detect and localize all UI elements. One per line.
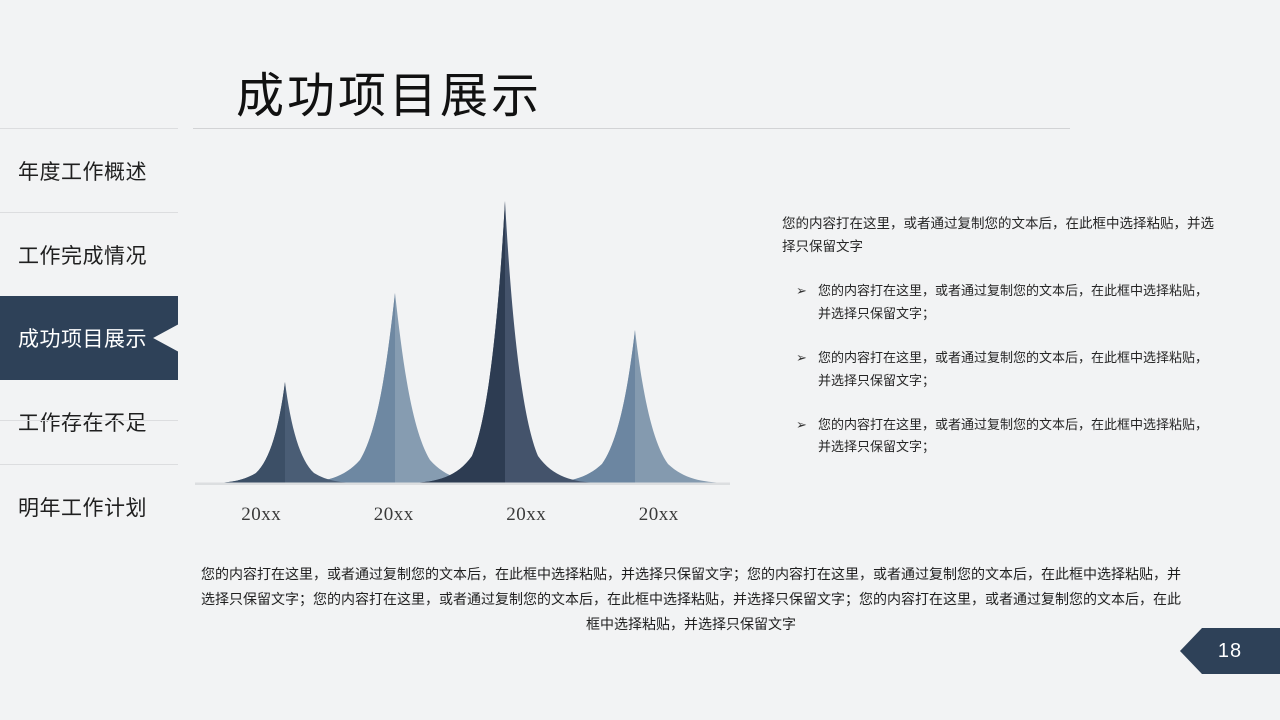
- bullet-item: ➢ 您的内容打在这里，或者通过复制您的文本后，在此框中选择粘贴，并选择只保留文字…: [782, 414, 1214, 459]
- arrow-bullet-icon: ➢: [796, 280, 818, 325]
- arrow-bullet-icon: ➢: [796, 347, 818, 392]
- bottom-paragraph: 您的内容打在这里，或者通过复制您的文本后，在此框中选择粘贴，并选择只保留文字；您…: [196, 562, 1186, 637]
- title-divider: [193, 128, 1070, 129]
- x-tick-1: 20xx: [195, 504, 328, 526]
- x-tick-2: 20xx: [328, 504, 461, 526]
- chart-x-axis-labels: 20xx 20xx 20xx 20xx: [195, 504, 725, 526]
- bullet-item: ➢ 您的内容打在这里，或者通过复制您的文本后，在此框中选择粘贴，并选择只保留文字…: [782, 347, 1214, 392]
- content-panel: 您的内容打在这里，或者通过复制您的文本后，在此框中选择粘贴，并选择只保留文字 ➢…: [782, 212, 1214, 481]
- page-number-label: 18: [1218, 640, 1242, 663]
- page-number-badge: 18: [1180, 628, 1280, 674]
- sidebar-item-label: 工作存在不足: [18, 407, 147, 437]
- chart-peak-3: [412, 201, 598, 483]
- sidebar-item-label: 工作完成情况: [18, 240, 147, 270]
- chart-peak-1: [210, 382, 360, 483]
- chart-svg: [190, 190, 735, 490]
- sidebar-item-successful-projects[interactable]: 成功项目展示: [0, 296, 178, 380]
- bullet-text: 您的内容打在这里，或者通过复制您的文本后，在此框中选择粘贴，并选择只保留文字；: [818, 414, 1214, 459]
- sidebar-item-label: 年度工作概述: [18, 156, 147, 186]
- sidebar-nav: 年度工作概述 工作完成情况 成功项目展示 工作存在不足 明年工作计划: [0, 128, 178, 548]
- arrow-bullet-icon: ➢: [796, 414, 818, 459]
- x-tick-3: 20xx: [460, 504, 593, 526]
- slide-canvas: 成功项目展示 年度工作概述 工作完成情况 成功项目展示 工作存在不足 明年工作计…: [0, 0, 1280, 720]
- sidebar-item-annual-overview[interactable]: 年度工作概述: [0, 128, 178, 212]
- sidebar-item-work-completion[interactable]: 工作完成情况: [0, 212, 178, 296]
- chart-baseline: [195, 483, 730, 486]
- x-tick-4: 20xx: [593, 504, 726, 526]
- sidebar-bottom-divider: [0, 420, 178, 421]
- bullet-text: 您的内容打在这里，或者通过复制您的文本后，在此框中选择粘贴，并选择只保留文字；: [818, 280, 1214, 325]
- sidebar-item-label: 成功项目展示: [18, 323, 147, 353]
- sidebar-item-label: 明年工作计划: [18, 492, 147, 522]
- peak-area-chart: [190, 190, 735, 490]
- chart-peak-4: [545, 330, 725, 483]
- page-title: 成功项目展示: [236, 56, 542, 126]
- bullet-text: 您的内容打在这里，或者通过复制您的文本后，在此框中选择粘贴，并选择只保留文字；: [818, 347, 1214, 392]
- bullet-item: ➢ 您的内容打在这里，或者通过复制您的文本后，在此框中选择粘贴，并选择只保留文字…: [782, 280, 1214, 325]
- lead-paragraph: 您的内容打在这里，或者通过复制您的文本后，在此框中选择粘贴，并选择只保留文字: [782, 212, 1214, 258]
- chart-peak-2: [300, 293, 490, 483]
- sidebar-item-next-year-plan[interactable]: 明年工作计划: [0, 464, 178, 548]
- sidebar-item-shortcomings[interactable]: 工作存在不足: [0, 380, 178, 464]
